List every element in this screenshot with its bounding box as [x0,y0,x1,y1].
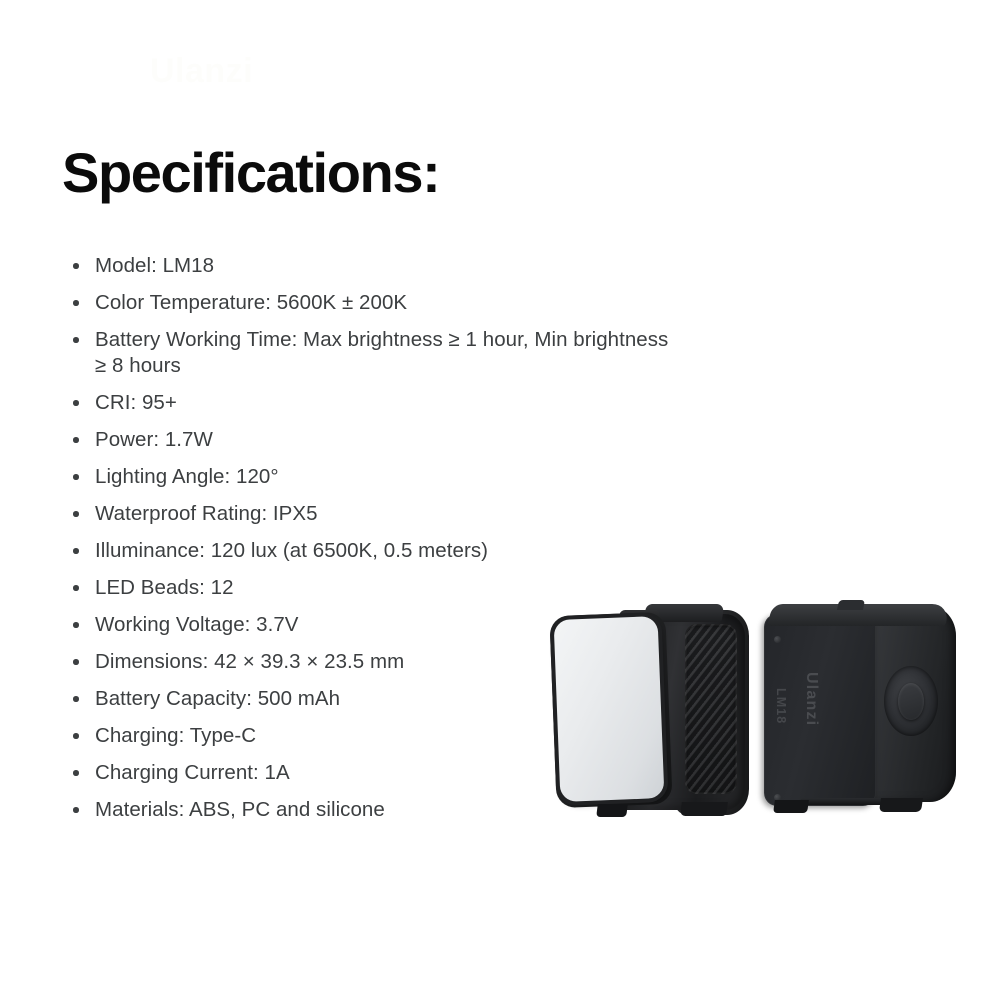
rubber-foot [596,804,628,817]
spec-text: Dimensions: 42 × 39.3 × 23.5 mm [95,650,404,673]
bullet-icon [73,548,79,554]
bullet-icon [73,474,79,480]
bullet-icon [73,807,79,813]
list-item: Model: LM18 [62,253,682,279]
spec-text: Lighting Angle: 120° [95,465,279,488]
model-label: LM18 [774,688,788,724]
screw-icon [774,636,781,643]
spec-text: Materials: ABS, PC and silicone [95,798,385,821]
list-item: Lighting Angle: 120° [62,464,682,490]
spec-text: Color Temperature: 5600K ± 200K [95,291,407,314]
list-item: Waterproof Rating: IPX5 [62,501,682,527]
bullet-icon [73,300,79,306]
spec-text: Waterproof Rating: IPX5 [95,502,318,525]
bullet-icon [73,659,79,665]
bullet-icon [73,622,79,628]
bullet-icon [73,400,79,406]
list-item: Battery Working Time: Max brightness ≥ 1… [62,327,682,379]
bullet-icon [73,511,79,517]
front-view-light [553,602,758,817]
back-view-light: Ulanzi LM18 [760,600,970,818]
spec-text: Charging Current: 1A [95,761,290,784]
power-button [884,666,938,736]
textured-side-panel [685,624,737,794]
rubber-foot [773,800,809,813]
bullet-icon [73,770,79,776]
bullet-icon [73,696,79,702]
rubber-foot [879,798,923,812]
spec-text: LED Beads: 12 [95,576,234,599]
bullet-icon [73,437,79,443]
product-spec-page: Ulanzi Specifications: Model: LM18 Color… [0,0,1000,1000]
list-item: CRI: 95+ [62,390,682,416]
mount-rail [800,798,887,805]
spec-text: Working Voltage: 3.7V [95,613,299,636]
product-image: Ulanzi LM18 [545,592,975,840]
top-nub [837,600,865,610]
rubber-foot [680,802,728,816]
spec-text: Power: 1.7W [95,428,213,451]
bullet-icon [73,585,79,591]
led-diffuser-panel [554,616,665,802]
spec-text: Illuminance: 120 lux (at 6500K, 0.5 mete… [95,539,488,562]
page-title: Specifications: [62,142,439,204]
list-item: Color Temperature: 5600K ± 200K [62,290,682,316]
spec-text: CRI: 95+ [95,391,177,414]
light-back-face: Ulanzi LM18 [764,614,876,806]
spec-text: Charging: Type-C [95,724,256,747]
bullet-icon [73,263,79,269]
spec-text: Battery Capacity: 500 mAh [95,687,340,710]
bullet-icon [73,337,79,343]
power-button-inner [898,683,924,720]
list-item: Illuminance: 120 lux (at 6500K, 0.5 mete… [62,538,682,564]
bullet-icon [73,733,79,739]
list-item: Power: 1.7W [62,427,682,453]
spec-text: Battery Working Time: Max brightness ≥ 1… [95,328,668,377]
page-watermark: Ulanzi [150,52,450,112]
spec-text: Model: LM18 [95,254,214,277]
brand-label: Ulanzi [802,672,820,726]
